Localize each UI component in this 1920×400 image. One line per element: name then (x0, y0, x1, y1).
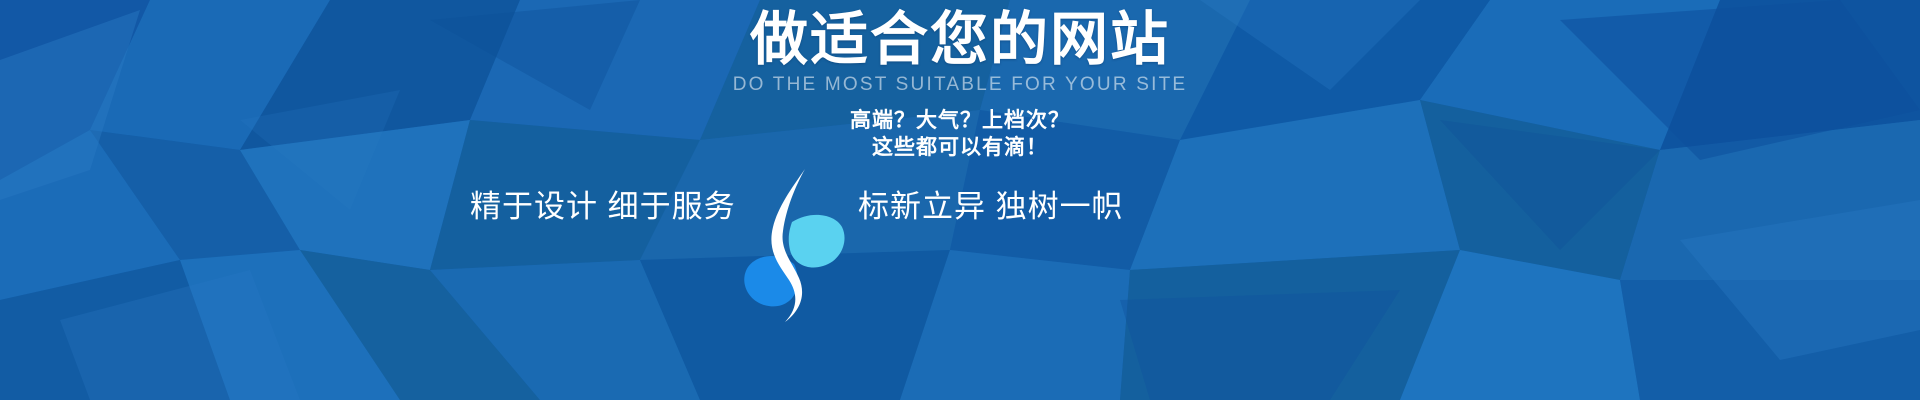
banner-subheadline: DO THE MOST SUITABLE FOR YOUR SITE (0, 74, 1920, 96)
slogan-right: 标新立异 独树一帜 (858, 185, 1124, 229)
banner-content: 做适合您的网站 DO THE MOST SUITABLE FOR YOUR SI… (0, 0, 1920, 400)
banner-tagline-line-2: 这些都可以有滴！ (0, 134, 1920, 162)
leaf-sprout-logo-icon (735, 165, 850, 325)
hero-banner: 做适合您的网站 DO THE MOST SUITABLE FOR YOUR SI… (0, 0, 1920, 400)
banner-headline: 做适合您的网站 (0, 8, 1920, 72)
banner-tagline-line-1: 高端？大气？上档次？ (0, 107, 1920, 135)
slogan-left: 精于设计 细于服务 (470, 185, 736, 229)
